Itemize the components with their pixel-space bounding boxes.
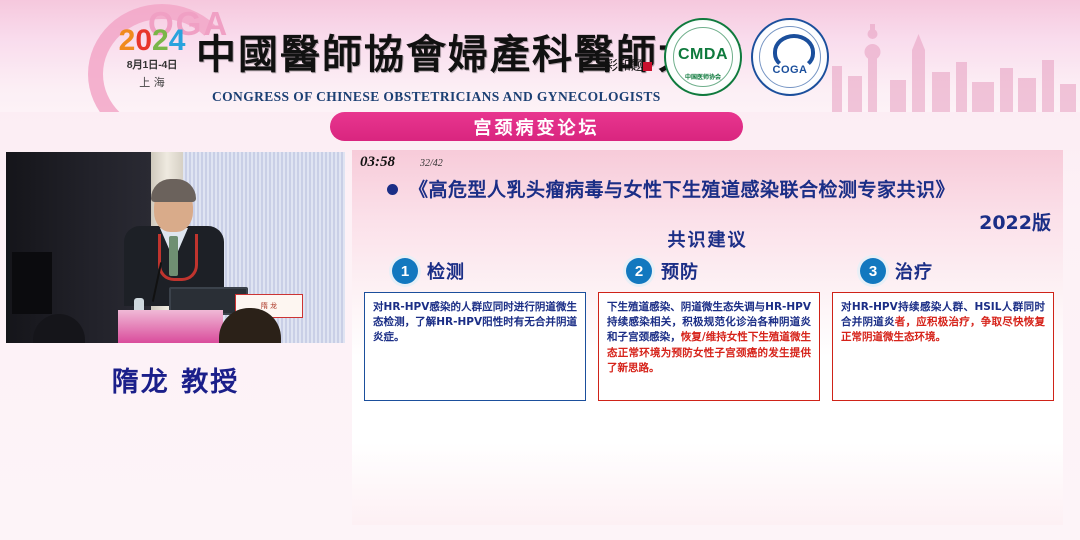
column-2-header: 2 预防 — [598, 258, 820, 284]
slide-subtitle: 共识建议 — [352, 226, 1063, 252]
column-3-label: 治疗 — [895, 258, 933, 284]
cmda-logo-label: CMDA — [666, 46, 740, 64]
congress-title-en: CONGRESS OF CHINESE OBSTETRICIANS AND GY… — [212, 89, 661, 105]
coga-logo-label: COGA — [753, 64, 827, 76]
congress-title-cn-suffix: 彩和题 — [605, 55, 644, 74]
recommendation-column-3: 3 治疗 对HR-HPV持续感染人群、HSIL人群同时合并阴道炎者，应积极治疗，… — [832, 258, 1054, 401]
cmda-logo-cn: 中国医师协会 — [666, 72, 740, 81]
congress-title-cn: 中國醫師協會婦產科醫師大會 — [196, 22, 742, 80]
year-digit-4: 4 — [169, 24, 186, 57]
video-nameplate-text: 隋 龙 — [261, 301, 277, 311]
presentation-timer: 03:58 — [360, 154, 395, 171]
year-block: 2024 8月1日-4日 上 海 — [108, 26, 196, 90]
year-digit-3: 2 — [152, 24, 169, 57]
conference-city: 上 海 — [108, 74, 196, 90]
video-foreground-block — [12, 252, 52, 314]
shanghai-skyline-graphic — [820, 20, 1080, 112]
conference-date: 8月1日-4日 — [108, 57, 196, 72]
page-background: OGA 2024 8月1日-4日 上 海 中國醫師協會婦產科醫師大會 彩和题 C… — [0, 0, 1080, 540]
red-seal-stamp — [643, 62, 652, 71]
column-1-textbox: 对HR-HPV感染的人群应同时进行阴道微生态检测，了解HR-HPV阳性时有无合并… — [364, 292, 586, 401]
coga-logo: COGA — [751, 18, 829, 96]
forum-title-text: 宫颈病变论坛 — [474, 114, 600, 140]
cmda-logo: CMDA 中国医师协会 — [664, 18, 742, 96]
forum-title-banner: 宫颈病变论坛 — [330, 112, 743, 141]
column-1-header: 1 检测 — [364, 258, 586, 284]
column-3-header: 3 治疗 — [832, 258, 1054, 284]
bullet-point-icon — [387, 184, 398, 195]
column-1-label: 检测 — [427, 258, 465, 284]
year-digit-1: 2 — [119, 24, 136, 57]
presentation-slide[interactable]: 03:58 32/42 《高危型人乳头瘤病毒与女性下生殖道感染联合检测专家共识》… — [352, 150, 1063, 525]
video-speaker-lanyard — [158, 234, 198, 281]
slide-counter: 32/42 — [420, 158, 443, 169]
column-2-number: 2 — [626, 258, 652, 284]
slide-title: 《高危型人乳头瘤病毒与女性下生殖道感染联合检测专家共识》 — [409, 175, 1054, 202]
column-1-number: 1 — [392, 258, 418, 284]
video-podium — [118, 310, 223, 343]
recommendation-column-1: 1 检测 对HR-HPV感染的人群应同时进行阴道微生态检测，了解HR-HPV阳性… — [364, 258, 586, 401]
recommendation-columns: 1 检测 对HR-HPV感染的人群应同时进行阴道微生态检测，了解HR-HPV阳性… — [364, 258, 1054, 401]
speaker-name-label: 隋龙 教授 — [6, 360, 345, 399]
column-2-label: 预防 — [661, 258, 699, 284]
speaker-video-feed[interactable]: 隋 龙 — [6, 152, 345, 343]
video-speaker-tie — [169, 236, 178, 276]
year-digits: 2024 — [108, 26, 196, 56]
conference-header: OGA 2024 8月1日-4日 上 海 中國醫師協會婦產科醫師大會 彩和题 C… — [0, 0, 1080, 112]
column-3-number: 3 — [860, 258, 886, 284]
column-2-textbox: 下生殖道感染、阴道微生态失调与HR-HPV持续感染相关，积极规范化诊治各种阴道炎… — [598, 292, 820, 401]
column-3-textbox: 对HR-HPV持续感染人群、HSIL人群同时合并阴道炎者，应积极治疗，争取尽快恢… — [832, 292, 1054, 401]
recommendation-column-2: 2 预防 下生殖道感染、阴道微生态失调与HR-HPV持续感染相关，积极规范化诊治… — [598, 258, 820, 401]
year-digit-2: 0 — [135, 24, 152, 57]
column-1-blue-text: 对HR-HPV感染的人群应同时进行阴道微生态检测，了解HR-HPV阳性时有无合并… — [373, 301, 577, 343]
